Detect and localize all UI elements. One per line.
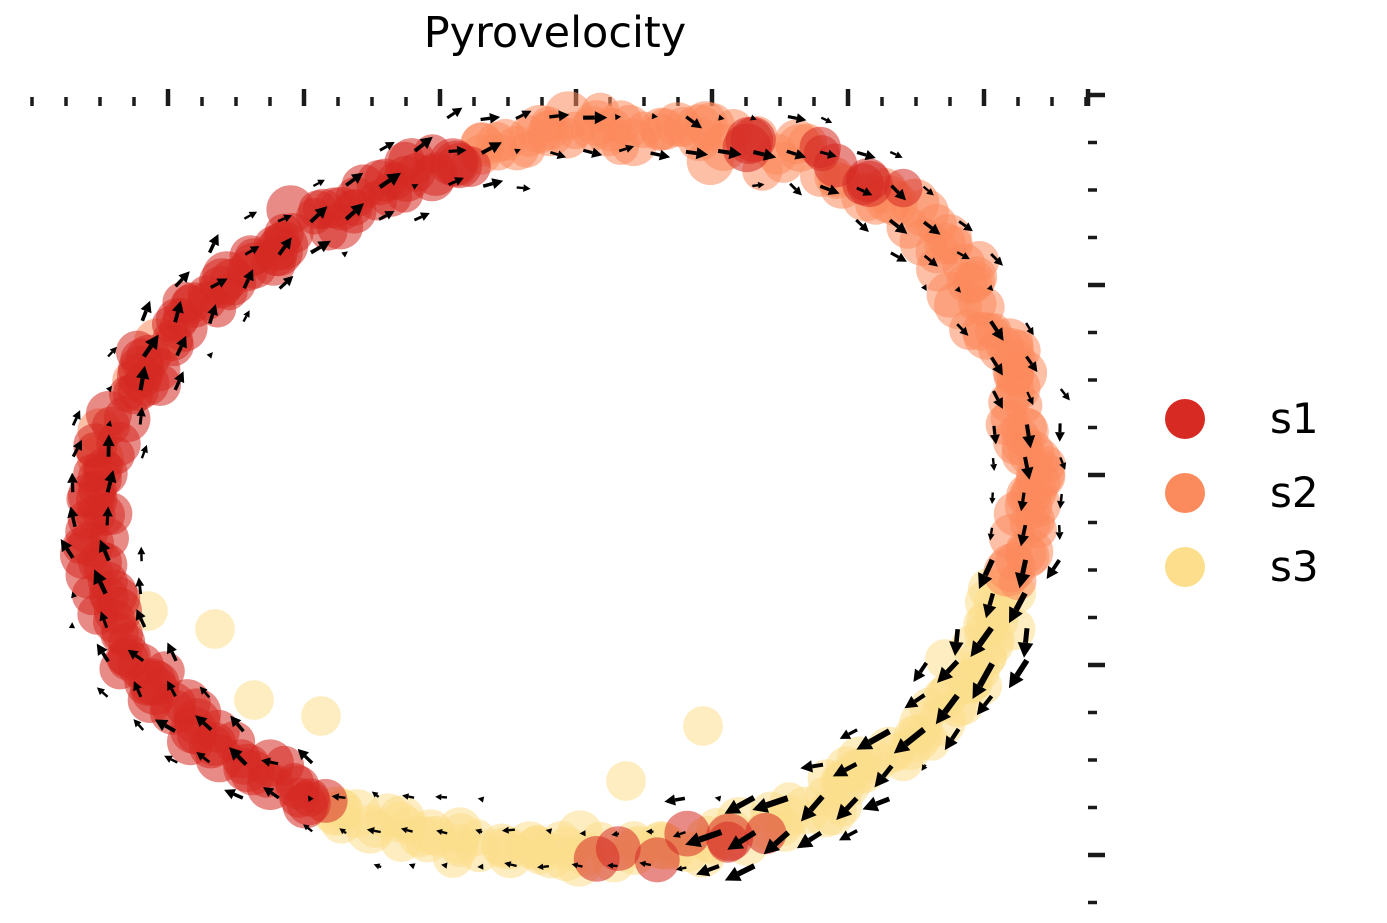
pyrovelocity-figure: Pyrovelocity s1 s2 s3 (0, 0, 1387, 923)
arrow-shaft (651, 153, 660, 155)
velocity-arrow (989, 493, 995, 505)
cell-point (195, 609, 235, 649)
arrow-head-icon (69, 622, 75, 628)
legend-item-s1[interactable]: s1 (1165, 398, 1319, 440)
arrow-shaft (890, 152, 896, 155)
velocity-arrow (990, 458, 997, 471)
velocity-arrow (517, 184, 531, 192)
arrow-head-icon (1055, 432, 1065, 442)
cell-point (1006, 473, 1051, 518)
legend: s1 s2 s3 (1165, 398, 1319, 588)
velocity-arrow (108, 347, 117, 357)
arrow-shaft (675, 798, 685, 800)
arrow-shaft (752, 185, 758, 186)
arrow-shaft (1023, 525, 1025, 535)
arrow-shaft (142, 311, 146, 321)
arrow-shaft (682, 868, 687, 869)
cell-point (683, 706, 723, 746)
arrow-shaft (956, 629, 957, 642)
arrow-shaft (848, 831, 857, 836)
arrow-shaft (821, 118, 826, 121)
arrow-shaft (809, 833, 821, 840)
arrow-shaft (442, 832, 447, 833)
arrow-shaft (483, 184, 493, 187)
arrow-shaft (270, 762, 278, 764)
arrow-shaft (407, 830, 413, 831)
arrow-head-icon (664, 794, 676, 805)
cell-point (301, 696, 341, 736)
velocity-arrow (664, 794, 685, 805)
velocity-arrow (414, 213, 429, 221)
velocity-arrow (69, 622, 75, 628)
arrow-shaft (849, 730, 857, 734)
velocity-arrow (725, 866, 755, 881)
velocity-arrow (1055, 423, 1065, 441)
arrow-shaft (339, 797, 346, 798)
velocity-arrow (409, 863, 416, 869)
arrow-head-icon (207, 352, 213, 359)
arrow-head-icon (523, 184, 531, 192)
velocity-arrow (244, 212, 257, 219)
arrow-shaft (244, 215, 250, 218)
arrow-head-icon (137, 547, 145, 555)
arrow-shaft (991, 528, 992, 534)
arrow-shaft (344, 832, 346, 833)
arrow-shaft (142, 452, 144, 458)
velocity-arrow (790, 184, 802, 196)
velocity-arrow (97, 687, 108, 696)
cell-point (664, 811, 710, 857)
arrow-shaft (379, 866, 381, 867)
arrow-shaft (876, 799, 889, 804)
arrow-shaft (920, 663, 926, 672)
arrow-head-icon (990, 464, 997, 471)
arrow-shaft (408, 797, 414, 798)
arrow-head-icon (409, 863, 416, 869)
velocity-arrow (863, 797, 890, 812)
velocity-arrow (341, 251, 348, 257)
velocity-arrow (890, 151, 902, 158)
arrow-head-icon (491, 178, 503, 189)
legend-item-s3[interactable]: s3 (1165, 546, 1319, 588)
velocity-arrow (715, 796, 721, 802)
arrow-shaft (244, 316, 247, 321)
legend-swatch-icon (1165, 473, 1205, 513)
arrow-shaft (481, 118, 490, 119)
arrow-shaft (1023, 560, 1026, 574)
velocity-arrow (141, 301, 152, 321)
arrow-shaft (107, 516, 108, 525)
arrow-head-icon (435, 794, 441, 800)
arrow-shaft (1061, 389, 1065, 395)
arrow-head-icon (135, 577, 144, 586)
velocity-arrow (1009, 660, 1027, 688)
cell-points-layer (60, 91, 1066, 887)
velocity-arrow (483, 178, 503, 189)
arrow-shaft (993, 458, 994, 464)
velocity-arrow (243, 310, 249, 321)
velocity-arrow (447, 108, 462, 118)
arrow-shaft (139, 725, 144, 730)
arrow-head-icon (715, 796, 721, 802)
arrow-shaft (790, 184, 796, 190)
arrow-shaft (311, 247, 321, 253)
arrow-shaft (509, 830, 515, 831)
arrow-shaft (308, 828, 312, 831)
velocity-arrow (857, 150, 876, 160)
arrow-shaft (753, 152, 764, 155)
arrow-shaft (140, 416, 141, 424)
arrow-shaft (305, 756, 312, 763)
arrow-shaft (210, 244, 214, 253)
arrow-shaft (686, 152, 697, 154)
legend-item-label: s2 (1270, 472, 1319, 514)
arrow-shaft (994, 426, 995, 435)
legend-item-label: s3 (1270, 546, 1319, 588)
arrow-head-icon (1055, 532, 1063, 540)
arrow-shaft (1053, 560, 1059, 569)
arrow-shaft (543, 866, 549, 867)
arrow-shaft (788, 117, 797, 119)
arrow-shaft (377, 795, 379, 797)
arrow-shaft (447, 113, 454, 118)
arrow-shaft (449, 151, 458, 152)
arrow-shaft (1026, 628, 1028, 643)
velocity-arrow (137, 547, 145, 562)
velocity-arrow (141, 445, 148, 458)
arrow-shaft (73, 517, 75, 527)
arrow-shaft (414, 217, 421, 220)
arrow-shaft (108, 482, 111, 493)
arrow-shaft (234, 794, 243, 798)
arrow-shaft (380, 146, 387, 150)
arrow-head-icon (989, 498, 995, 504)
arrow-shaft (577, 866, 582, 867)
arrow-head-icon (865, 150, 876, 160)
arrow-shaft (738, 866, 754, 874)
arrow-shaft (857, 152, 866, 155)
arrow-shaft (583, 150, 592, 152)
velocity-arrow (374, 864, 382, 870)
velocity-arrow (1061, 389, 1070, 401)
arrow-head-icon (341, 251, 348, 257)
cell-point (606, 761, 646, 801)
velocity-arrow (913, 663, 926, 682)
velocity-arrow (821, 117, 832, 123)
arrow-shaft (812, 765, 823, 767)
arrow-shaft (313, 183, 319, 186)
legend-swatch-icon (1165, 399, 1205, 439)
arrow-shaft (1027, 425, 1029, 437)
arrow-shaft (1061, 494, 1062, 501)
velocity-arrow (922, 764, 928, 771)
arrow-shaft (891, 253, 899, 257)
arrow-shaft (645, 864, 651, 865)
arrow-head-icon (800, 760, 813, 772)
velocity-arrow (478, 797, 485, 803)
arrow-shaft (175, 312, 178, 322)
arrow-shaft (108, 352, 112, 357)
velocity-arrow (435, 794, 447, 800)
arrow-head-icon (1018, 642, 1034, 658)
legend-item-s2[interactable]: s2 (1165, 472, 1319, 514)
arrow-shaft (1023, 493, 1024, 502)
arrow-shaft (1025, 457, 1027, 468)
legend-swatch-icon (1165, 547, 1205, 587)
arrow-shaft (73, 418, 76, 425)
velocity-arrow (209, 234, 219, 253)
arrow-shaft (511, 865, 517, 866)
cell-point (723, 124, 772, 173)
arrow-shaft (374, 831, 381, 832)
arrow-shaft (102, 692, 107, 697)
arrow-shaft (549, 116, 559, 117)
arrow-shaft (1017, 660, 1027, 675)
velocity-arrow (207, 352, 213, 359)
velocity-arrow (313, 180, 325, 186)
arrow-shaft (925, 765, 926, 766)
arrow-shaft (140, 586, 141, 594)
arrow-shaft (141, 379, 143, 391)
arrow-shaft (517, 187, 524, 188)
arrow-shaft (718, 151, 729, 153)
legend-item-label: s1 (1270, 398, 1319, 440)
arrow-head-icon (478, 797, 485, 803)
cell-point (234, 680, 274, 720)
arrow-head-icon (659, 150, 670, 161)
